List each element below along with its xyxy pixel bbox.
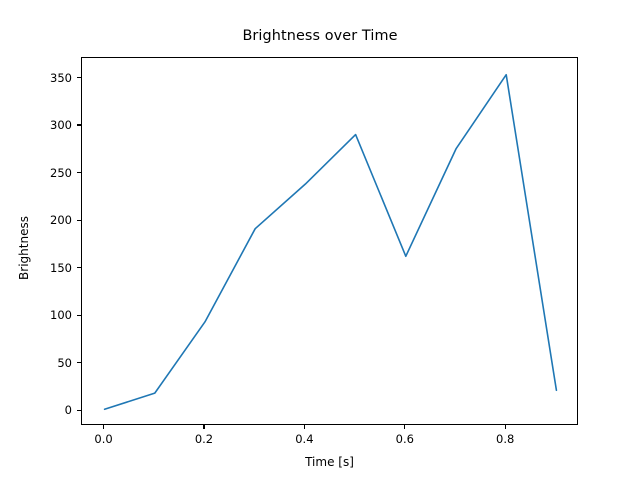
y-axis-label: Brightness xyxy=(17,188,31,308)
y-tick-label: 100 xyxy=(20,308,72,322)
data-series-brightness xyxy=(105,75,557,410)
x-tick-label: 0.6 xyxy=(396,432,414,446)
line-plot xyxy=(82,58,579,426)
chart-title: Brightness over Time xyxy=(0,28,640,44)
y-tick-label: 0 xyxy=(20,403,72,417)
x-tick-label: 0.2 xyxy=(195,432,213,446)
figure-canvas: Brightness over Time Brightness Time [s]… xyxy=(0,0,640,480)
y-tick-label: 350 xyxy=(20,71,72,85)
x-tick-label: 0.4 xyxy=(295,432,313,446)
x-tick-label: 0.8 xyxy=(496,432,514,446)
y-tick-label: 150 xyxy=(20,261,72,275)
y-tick-label: 50 xyxy=(20,356,72,370)
x-tick-label: 0.0 xyxy=(94,432,112,446)
y-tick-label: 300 xyxy=(20,118,72,132)
x-axis-label: Time [s] xyxy=(81,455,578,469)
plot-area xyxy=(81,57,578,425)
y-tick-label: 250 xyxy=(20,166,72,180)
y-tick-label: 200 xyxy=(20,213,72,227)
